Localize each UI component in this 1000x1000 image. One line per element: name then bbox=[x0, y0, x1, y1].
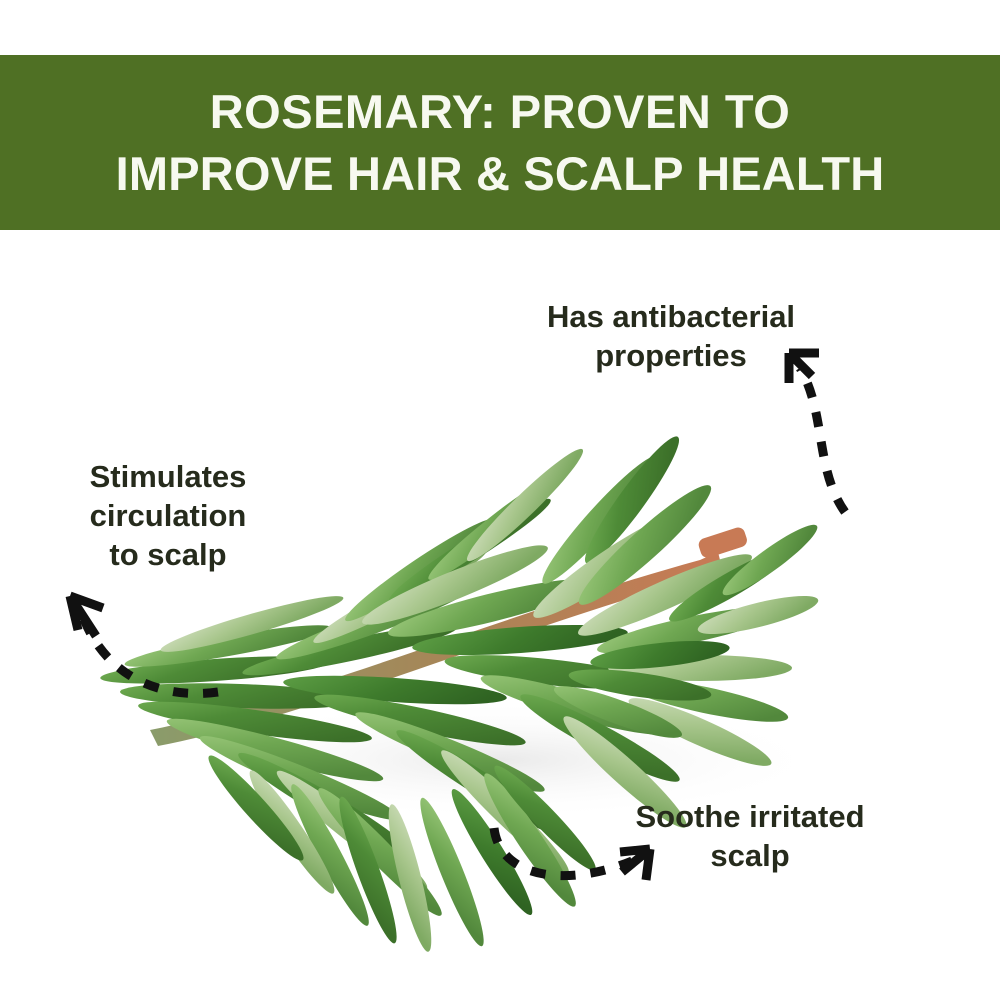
callout-circulation: Stimulates circulation to scalp bbox=[48, 457, 288, 574]
cut-stem-tip bbox=[697, 526, 749, 560]
callout-soothe-line-2: scalp bbox=[600, 836, 900, 875]
callout-soothe-line-1: Soothe irritated bbox=[600, 797, 900, 836]
callout-antibacterial-line-1: Has antibacterial bbox=[506, 297, 836, 336]
callout-circulation-line-3: to scalp bbox=[48, 535, 288, 574]
callout-circulation-line-1: Stimulates bbox=[48, 457, 288, 496]
infographic-page: ROSEMARY: PROVEN TO IMPROVE HAIR & SCALP… bbox=[0, 0, 1000, 1000]
page-title-line-2: IMPROVE HAIR & SCALP HEALTH bbox=[116, 143, 885, 205]
page-title-line-1: ROSEMARY: PROVEN TO bbox=[210, 81, 791, 143]
callout-circulation-line-2: circulation bbox=[48, 496, 288, 535]
callout-antibacterial-line-2: properties bbox=[506, 336, 836, 375]
callout-soothe: Soothe irritated scalp bbox=[600, 797, 900, 875]
callout-antibacterial: Has antibacterial properties bbox=[506, 297, 836, 375]
header-banner: ROSEMARY: PROVEN TO IMPROVE HAIR & SCALP… bbox=[0, 55, 1000, 230]
